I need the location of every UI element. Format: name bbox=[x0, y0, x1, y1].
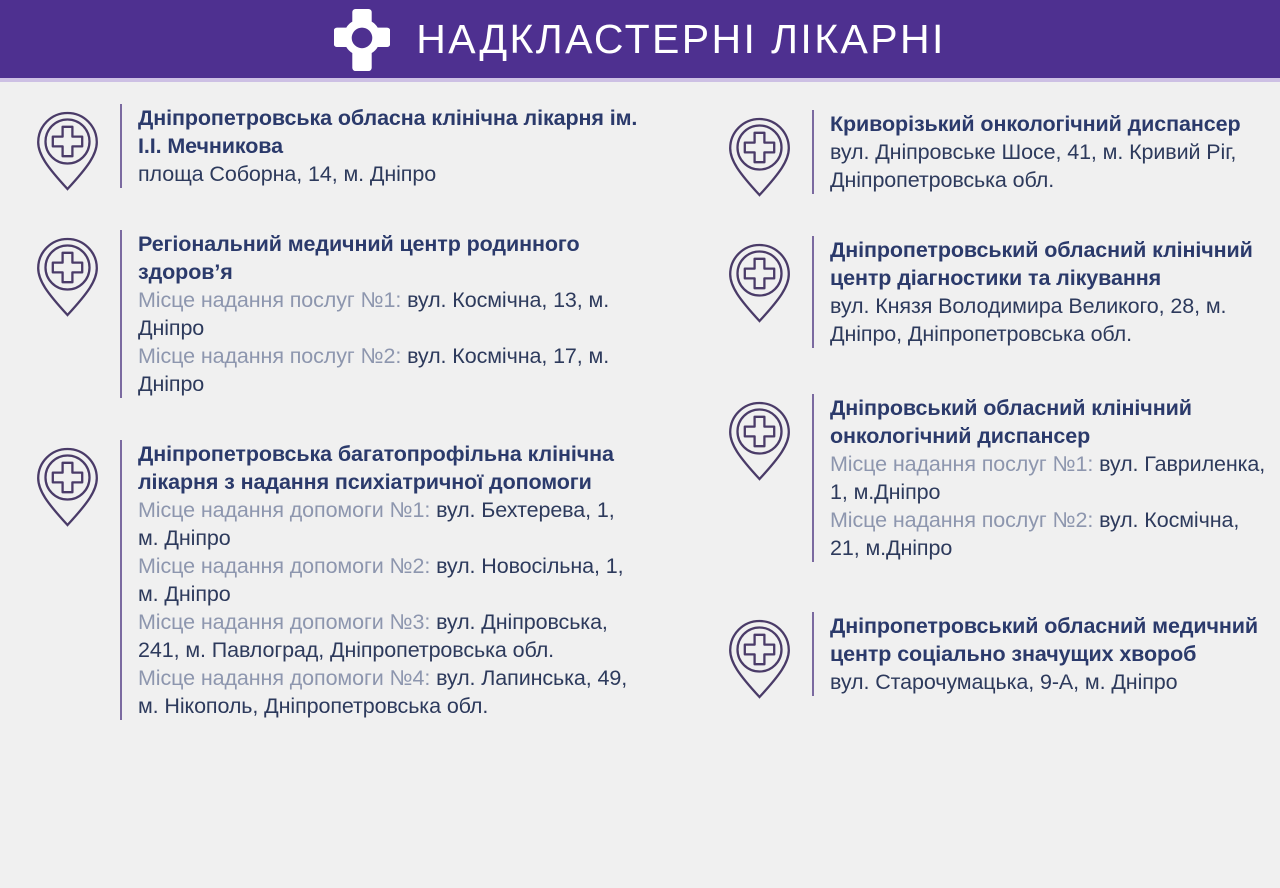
hospital-name: Дніпропетровська обласна клінічна лікарн… bbox=[138, 104, 640, 160]
column-right: Криворізький онкологічний диспансер вул.… bbox=[648, 104, 1280, 700]
entry-text: Криворізький онкологічний диспансер вул.… bbox=[812, 110, 1266, 194]
address-value: вул. Старочумацька, 9-А, м. Дніпро bbox=[830, 670, 1178, 694]
hospital-address: Місце надання послуг №1: вул. Космічна, … bbox=[138, 286, 640, 342]
pin-wrap bbox=[726, 612, 812, 700]
hospital-name: Регіональний медичний центр родинного зд… bbox=[138, 230, 640, 286]
address-label: Місце надання допомоги №2: bbox=[138, 554, 436, 578]
entry-text: Дніпропетровська обласна клінічна лікарн… bbox=[120, 104, 640, 188]
hospital-address: вул. Князя Володимира Великого, 28, м. Д… bbox=[830, 292, 1266, 348]
hospital-address: Місце надання послуг №2: вул. Космічна, … bbox=[830, 506, 1266, 562]
map-pin-medical-icon bbox=[726, 116, 793, 198]
address-label: Місце надання допомоги №3: bbox=[138, 610, 436, 634]
hospital-entry[interactable]: Криворізький онкологічний диспансер вул.… bbox=[726, 110, 1266, 198]
hospital-list: Дніпропетровська обласна клінічна лікарн… bbox=[0, 78, 1280, 884]
map-pin-medical-icon bbox=[726, 242, 793, 324]
entry-text: Дніпропетровська багатопрофільна клінічн… bbox=[120, 440, 640, 720]
address-label: Місце надання допомоги №4: bbox=[138, 666, 436, 690]
hospital-address: Місце надання допомоги №4: вул. Лапинськ… bbox=[138, 664, 640, 720]
address-value: вул. Князя Володимира Великого, 28, м. Д… bbox=[830, 294, 1226, 346]
hospital-address: площа Соборна, 14, м. Дніпро bbox=[138, 160, 640, 188]
address-label: Місце надання послуг №2: bbox=[138, 344, 407, 368]
hospital-address: Місце надання послуг №1: вул. Гавриленка… bbox=[830, 450, 1266, 506]
address-label: Місце надання послуг №1: bbox=[830, 452, 1099, 476]
entry-text: Регіональний медичний центр родинного зд… bbox=[120, 230, 640, 398]
hospital-address: Місце надання допомоги №2: вул. Новосіль… bbox=[138, 552, 640, 608]
entry-text: Дніпровський обласний клінічний онкологі… bbox=[812, 394, 1266, 562]
map-pin-medical-icon bbox=[34, 110, 101, 192]
entry-text: Дніпропетровський обласний клінічний цен… bbox=[812, 236, 1266, 348]
column-left: Дніпропетровська обласна клінічна лікарн… bbox=[0, 104, 648, 720]
pin-wrap bbox=[34, 104, 120, 192]
medical-cross-logo-icon bbox=[334, 9, 390, 71]
two-column-layout: Дніпропетровська обласна клінічна лікарн… bbox=[0, 104, 1280, 720]
page-header: НАДКЛАСТЕРНІ ЛІКАРНІ bbox=[0, 0, 1280, 78]
pin-wrap bbox=[726, 236, 812, 324]
hospital-name: Дніпропетровська багатопрофільна клінічн… bbox=[138, 440, 640, 496]
pin-wrap bbox=[726, 394, 812, 482]
hospital-address: Місце надання послуг №2: вул. Космічна, … bbox=[138, 342, 640, 398]
hospital-entry[interactable]: Дніпропетровська багатопрофільна клінічн… bbox=[34, 440, 640, 720]
pin-wrap bbox=[726, 110, 812, 198]
hospital-entry[interactable]: Дніпропетровський обласний медичний цент… bbox=[726, 612, 1266, 700]
hospital-address: Місце надання допомоги №3: вул. Дніпровс… bbox=[138, 608, 640, 664]
address-label: Місце надання допомоги №1: bbox=[138, 498, 436, 522]
pin-wrap bbox=[34, 230, 120, 318]
hospital-entry[interactable]: Дніпропетровська обласна клінічна лікарн… bbox=[34, 104, 640, 192]
address-value: площа Соборна, 14, м. Дніпро bbox=[138, 162, 436, 186]
map-pin-medical-icon bbox=[726, 400, 793, 482]
hospital-entry[interactable]: Регіональний медичний центр родинного зд… bbox=[34, 230, 640, 398]
hospital-address: вул. Дніпровське Шосе, 41, м. Кривий Ріг… bbox=[830, 138, 1266, 194]
page-title: НАДКЛАСТЕРНІ ЛІКАРНІ bbox=[416, 19, 946, 60]
hospital-address: вул. Старочумацька, 9-А, м. Дніпро bbox=[830, 668, 1266, 696]
entry-text: Дніпропетровський обласний медичний цент… bbox=[812, 612, 1266, 696]
hospital-name: Дніпропетровський обласний медичний цент… bbox=[830, 612, 1266, 668]
address-label: Місце надання послуг №1: bbox=[138, 288, 407, 312]
address-value: вул. Дніпровське Шосе, 41, м. Кривий Ріг… bbox=[830, 140, 1236, 192]
address-label: Місце надання послуг №2: bbox=[830, 508, 1099, 532]
hospital-name: Дніпровський обласний клінічний онкологі… bbox=[830, 394, 1266, 450]
hospital-name: Криворізький онкологічний диспансер bbox=[830, 110, 1266, 138]
hospital-entry[interactable]: Дніпропетровський обласний клінічний цен… bbox=[726, 236, 1266, 348]
map-pin-medical-icon bbox=[34, 446, 101, 528]
hospital-entry[interactable]: Дніпровський обласний клінічний онкологі… bbox=[726, 394, 1266, 562]
hospital-address: Місце надання допомоги №1: вул. Бехтерев… bbox=[138, 496, 640, 552]
map-pin-medical-icon bbox=[34, 236, 101, 318]
hospital-name: Дніпропетровський обласний клінічний цен… bbox=[830, 236, 1266, 292]
map-pin-medical-icon bbox=[726, 618, 793, 700]
pin-wrap bbox=[34, 440, 120, 528]
